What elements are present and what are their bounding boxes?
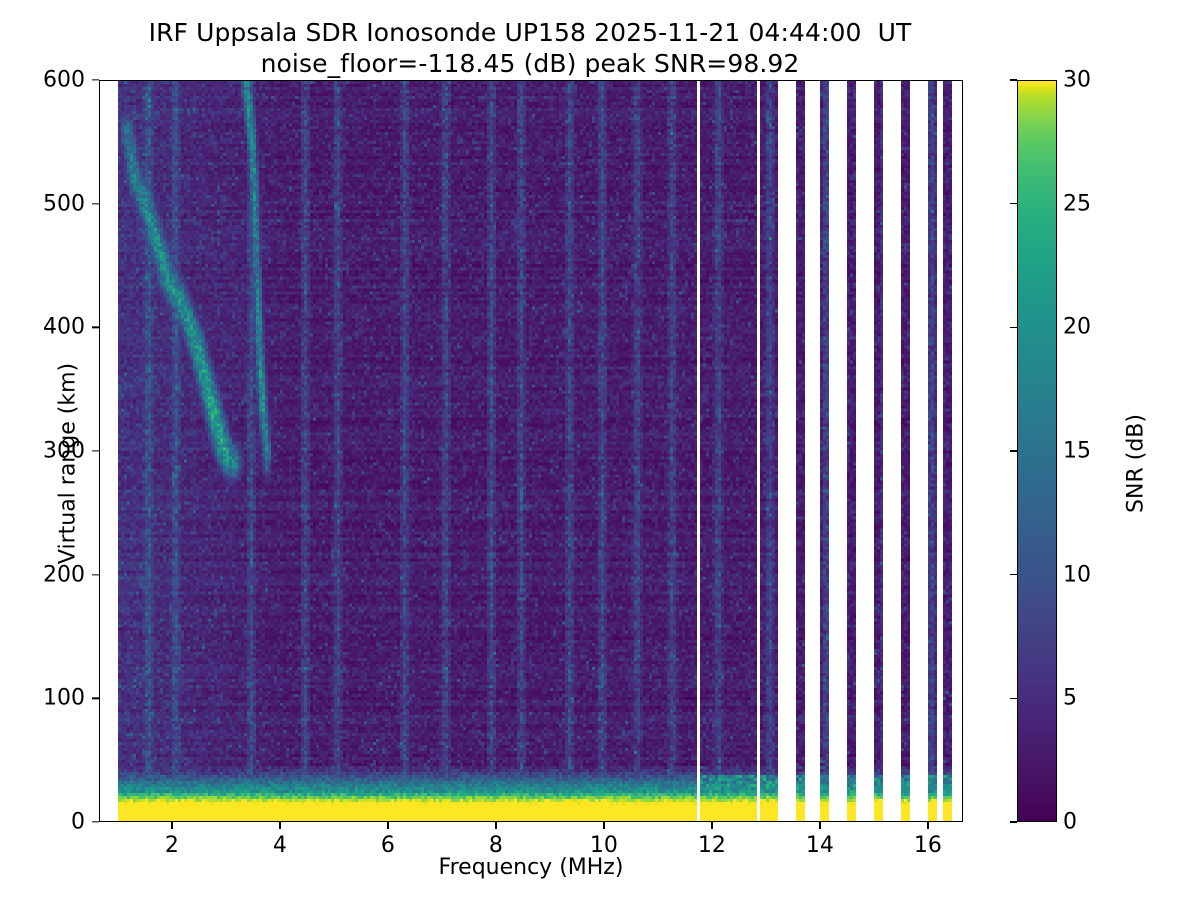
- colorbar: [1017, 80, 1057, 822]
- colorbar-tick-mark: [1010, 450, 1017, 451]
- x-tick-mark: [927, 822, 928, 829]
- colorbar-gradient: [1018, 81, 1056, 821]
- y-tick-mark: [92, 821, 99, 822]
- plot-area: [99, 80, 963, 822]
- x-tick-mark: [387, 822, 388, 829]
- y-axis-label: Virtual range (km): [56, 164, 81, 764]
- x-tick-mark: [171, 822, 172, 829]
- x-tick-mark: [279, 822, 280, 829]
- colorbar-tick-label: 25: [1063, 191, 1091, 216]
- colorbar-label: SNR (dB): [1124, 164, 1149, 764]
- colorbar-tick-label: 10: [1063, 562, 1091, 587]
- colorbar-tick-label: 20: [1063, 315, 1091, 340]
- colorbar-tick-mark: [1010, 327, 1017, 328]
- colorbar-tick-label: 15: [1063, 439, 1091, 464]
- y-tick-mark: [92, 327, 99, 328]
- figure-title: IRF Uppsala SDR Ionosonde UP158 2025-11-…: [0, 18, 1060, 79]
- y-tick-mark: [92, 574, 99, 575]
- y-tick-mark: [92, 450, 99, 451]
- ionogram-heatmap: [100, 81, 963, 822]
- colorbar-tick-mark: [1010, 698, 1017, 699]
- y-tick-label: 600: [43, 68, 85, 93]
- colorbar-tick-mark: [1010, 821, 1017, 822]
- y-tick-mark: [92, 203, 99, 204]
- colorbar-tick-label: 5: [1063, 686, 1077, 711]
- ionogram-figure: IRF Uppsala SDR Ionosonde UP158 2025-11-…: [0, 0, 1200, 900]
- x-tick-mark: [711, 822, 712, 829]
- y-tick-mark: [92, 698, 99, 699]
- x-tick-mark: [819, 822, 820, 829]
- title-line-secondary: noise_floor=-118.45 (dB) peak SNR=98.92: [0, 49, 1060, 80]
- colorbar-tick-label: 30: [1063, 68, 1091, 93]
- y-tick-label: 0: [71, 810, 85, 835]
- y-tick-mark: [92, 79, 99, 80]
- colorbar-tick-label: 0: [1063, 810, 1077, 835]
- x-tick-mark: [495, 822, 496, 829]
- title-line-primary: IRF Uppsala SDR Ionosonde UP158 2025-11-…: [0, 18, 1060, 49]
- colorbar-tick-mark: [1010, 79, 1017, 80]
- x-tick-mark: [603, 822, 604, 829]
- colorbar-tick-mark: [1010, 574, 1017, 575]
- colorbar-tick-mark: [1010, 203, 1017, 204]
- x-axis-label: Frequency (MHz): [99, 855, 963, 880]
